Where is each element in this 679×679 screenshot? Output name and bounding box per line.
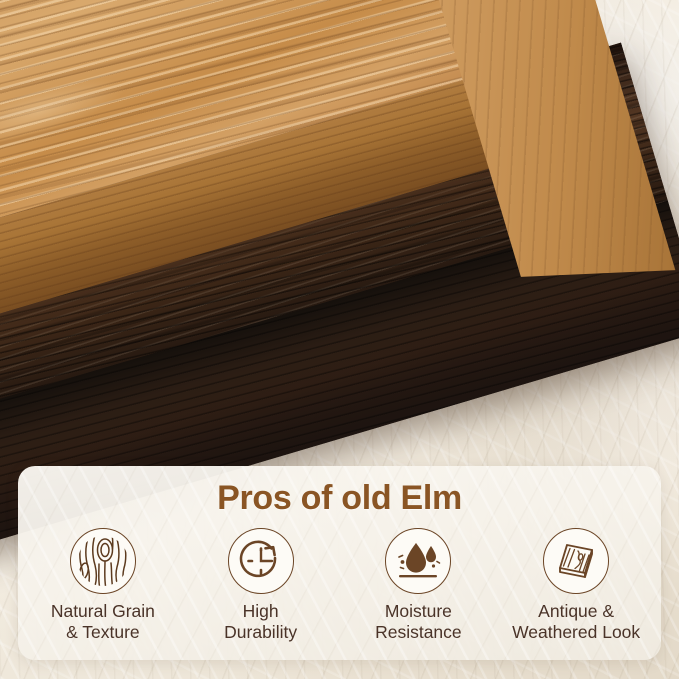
wood-plank-icon (543, 528, 609, 594)
feature-high-durability: High Durability (182, 528, 340, 643)
feature-natural-grain: Natural Grain & Texture (24, 528, 182, 643)
feature-label: Moisture Resistance (375, 601, 462, 643)
feature-moisture-resistance: Moisture Resistance (340, 528, 498, 643)
features-row: Natural Grain & Texture (18, 528, 661, 643)
feature-label: Antique & Weathered Look (512, 601, 640, 643)
clock-rotate-icon (228, 528, 294, 594)
water-droplet-icon (385, 528, 451, 594)
feature-label: Natural Grain & Texture (51, 601, 155, 643)
wood-grain-icon (70, 528, 136, 594)
card-title: Pros of old Elm (18, 479, 661, 518)
product-image-scene: Pros of old Elm (0, 0, 679, 679)
feature-label: High Durability (224, 601, 297, 643)
pros-card: Pros of old Elm (18, 466, 661, 660)
feature-antique-weathered: Antique & Weathered Look (497, 528, 655, 643)
